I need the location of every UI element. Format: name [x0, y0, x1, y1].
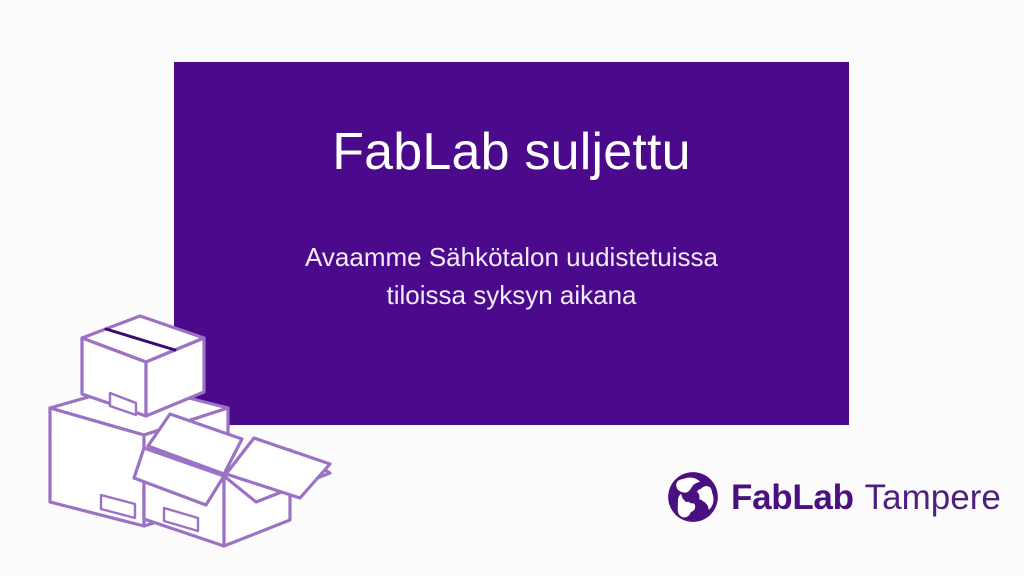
logo-wordmark: FabLab Tampere — [731, 480, 1001, 515]
cardboard-boxes-illustration — [38, 298, 344, 548]
logo-word-fablab: FabLab — [731, 480, 854, 515]
fablab-globe-icon — [666, 470, 720, 524]
panel-subtitle-line-1: Avaamme Sähkötalon uudistetuissa — [174, 239, 849, 277]
fablab-tampere-logo: FabLab Tampere — [666, 468, 1001, 526]
open-box-right — [134, 414, 330, 546]
closed-box-top — [82, 316, 204, 416]
logo-word-tampere: Tampere — [865, 480, 1001, 515]
page-title: FabLab suljettu — [174, 124, 849, 181]
slide-canvas: FabLab suljettu Avaamme Sähkötalon uudis… — [0, 0, 1024, 576]
